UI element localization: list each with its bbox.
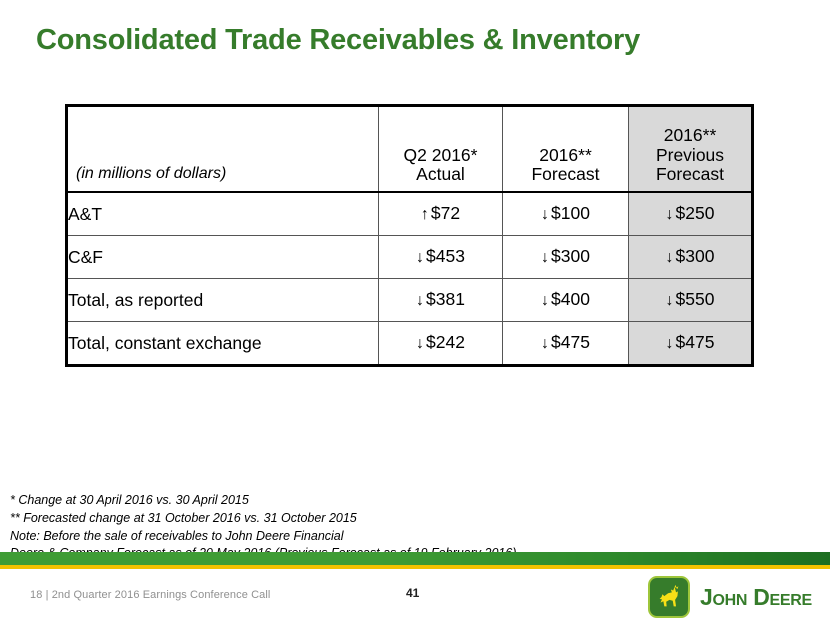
cell-q2-actual: ↑$72 — [379, 192, 503, 236]
arrow-up-icon: ↑ — [421, 206, 431, 223]
cell-value: $242 — [426, 332, 465, 352]
table-header-row: (in millions of dollars) Q2 2016* Actual… — [67, 106, 753, 193]
cell-value: $300 — [676, 246, 715, 266]
footnote-line-2: ** Forecasted change at 31 October 2016 … — [10, 510, 517, 528]
header-col-q2-actual: Q2 2016* Actual — [379, 106, 503, 193]
arrow-down-icon: ↓ — [541, 206, 551, 223]
footnote-line-1: * Change at 30 April 2016 vs. 30 April 2… — [10, 492, 517, 510]
page-number: 41 — [406, 586, 419, 600]
arrow-down-icon: ↓ — [666, 206, 676, 223]
footer-yellow-band — [0, 565, 830, 569]
cell-value: $453 — [426, 246, 465, 266]
row-label: Total, as reported — [67, 279, 379, 322]
cell-value: $250 — [676, 203, 715, 223]
table-row: Total, constant exchange ↓$242 ↓$475 ↓$4… — [67, 322, 753, 366]
receivables-inventory-table: (in millions of dollars) Q2 2016* Actual… — [65, 104, 754, 367]
cell-value: $400 — [551, 289, 590, 309]
table-row: C&F ↓$453 ↓$300 ↓$300 — [67, 236, 753, 279]
cell-q2-actual: ↓$453 — [379, 236, 503, 279]
cell-previous-forecast: ↓$300 — [629, 236, 753, 279]
cell-q2-actual: ↓$242 — [379, 322, 503, 366]
table-row: A&T ↑$72 ↓$100 ↓$250 — [67, 192, 753, 236]
header-col-previous-forecast-line1: 2016** — [629, 126, 751, 146]
john-deere-logo: John Deere — [648, 576, 812, 618]
cell-q2-actual: ↓$381 — [379, 279, 503, 322]
data-table-container: (in millions of dollars) Q2 2016* Actual… — [65, 104, 751, 367]
arrow-down-icon: ↓ — [666, 292, 676, 309]
page-title: Consolidated Trade Receivables & Invento… — [36, 24, 640, 57]
row-label: Total, constant exchange — [67, 322, 379, 366]
row-label: A&T — [67, 192, 379, 236]
header-col-forecast-line2: Forecast — [503, 165, 628, 185]
header-col-forecast: 2016** Forecast — [503, 106, 629, 193]
header-col-q2-actual-line1: Q2 2016* — [379, 146, 502, 166]
table-row: Total, as reported ↓$381 ↓$400 ↓$550 — [67, 279, 753, 322]
cell-value: $475 — [551, 332, 590, 352]
cell-value: $475 — [676, 332, 715, 352]
cell-value: $300 — [551, 246, 590, 266]
cell-forecast: ↓$100 — [503, 192, 629, 236]
cell-value: $550 — [676, 289, 715, 309]
cell-forecast: ↓$475 — [503, 322, 629, 366]
header-units-label: (in millions of dollars) — [67, 106, 379, 193]
footnote-line-3: Note: Before the sale of receivables to … — [10, 528, 517, 546]
header-col-previous-forecast-line3: Forecast — [629, 165, 751, 185]
cell-value: $72 — [431, 203, 460, 223]
deer-logo-icon — [648, 576, 690, 618]
arrow-down-icon: ↓ — [666, 335, 676, 352]
arrow-down-icon: ↓ — [416, 249, 426, 266]
header-col-forecast-line1: 2016** — [503, 146, 628, 166]
cell-previous-forecast: ↓$250 — [629, 192, 753, 236]
header-col-q2-actual-line2: Actual — [379, 165, 502, 185]
cell-forecast: ↓$300 — [503, 236, 629, 279]
arrow-down-icon: ↓ — [541, 335, 551, 352]
cell-previous-forecast: ↓$475 — [629, 322, 753, 366]
cell-previous-forecast: ↓$550 — [629, 279, 753, 322]
arrow-down-icon: ↓ — [541, 292, 551, 309]
header-col-previous-forecast: 2016** Previous Forecast — [629, 106, 753, 193]
cell-value: $100 — [551, 203, 590, 223]
logo-wordmark: John Deere — [700, 584, 812, 611]
cell-value: $381 — [426, 289, 465, 309]
arrow-down-icon: ↓ — [541, 249, 551, 266]
footer-green-band — [0, 552, 830, 565]
footer-slide-reference: 18 | 2nd Quarter 2016 Earnings Conferenc… — [30, 589, 270, 601]
cell-forecast: ↓$400 — [503, 279, 629, 322]
row-label: C&F — [67, 236, 379, 279]
header-col-previous-forecast-line2: Previous — [629, 146, 751, 166]
arrow-down-icon: ↓ — [666, 249, 676, 266]
arrow-down-icon: ↓ — [416, 292, 426, 309]
arrow-down-icon: ↓ — [416, 335, 426, 352]
